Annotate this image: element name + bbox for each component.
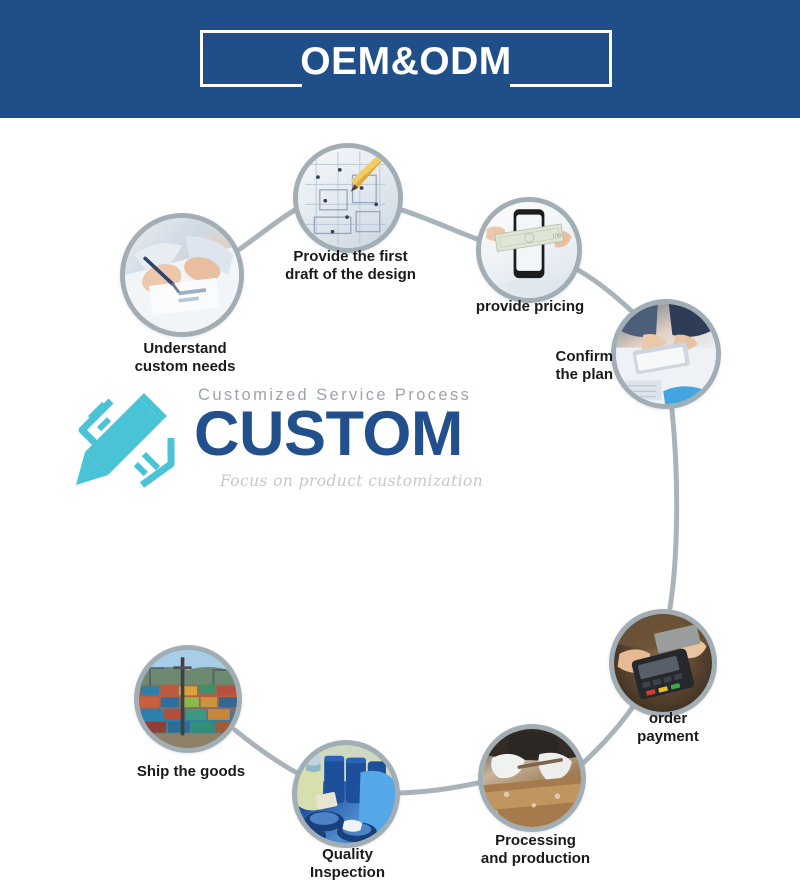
hands-writing-on-documents-photo: [125, 218, 239, 332]
worker-hands-shaping-wood-photo: [483, 729, 581, 827]
step-label-understand-custom-needs: Understand custom needs: [110, 340, 260, 375]
arc-needs-to-draft: [240, 210, 295, 249]
processing-and-production-image[interactable]: [478, 724, 586, 832]
pencil-ruler-icon: [70, 390, 182, 494]
order-payment-image[interactable]: [609, 609, 717, 717]
step-label-ship-the-goods: Ship the goods: [116, 763, 266, 781]
header-banner: OEM&ODM: [0, 0, 800, 118]
quality-inspection-image[interactable]: [292, 740, 400, 848]
step-label-provide-pricing: provide pricing: [455, 298, 605, 316]
frame-top-edge: [200, 30, 612, 33]
card-payment-terminal-photo: [614, 614, 712, 712]
blueprint-with-pencil-photo: [298, 148, 398, 248]
page-title: OEM&ODM: [200, 42, 612, 81]
two-people-reviewing-tablet-photo: [616, 304, 716, 404]
arc-draft-to-pricing: [402, 210, 477, 239]
frame-bottom-right-edge: [510, 84, 612, 87]
process-cycle-diagram: Understand custom needs: [0, 118, 800, 800]
provide-pricing-image[interactable]: 100: [476, 197, 582, 303]
hand-with-money-and-phone-photo: 100: [481, 202, 577, 298]
logo-tagline-bottom: Focus on product customization: [220, 472, 490, 490]
arc-plan-to-payment: [670, 410, 677, 608]
step-label-provide-first-draft: Provide the first draft of the design: [273, 248, 428, 283]
provide-first-draft-image[interactable]: [293, 143, 403, 253]
custom-logo: Customized Service Process CUSTOM Focus …: [70, 386, 490, 506]
shipping-container-port-photo: [139, 650, 237, 748]
svg-text:100: 100: [551, 232, 561, 240]
understand-custom-needs-image[interactable]: [120, 213, 244, 337]
logo-wordmark: CUSTOM: [194, 403, 494, 466]
inspectors-checking-blue-drums-photo: [297, 745, 395, 843]
step-label-quality-inspection: Quality Inspection: [290, 846, 405, 881]
arc-prod-to-qc: [400, 783, 478, 793]
ship-the-goods-image[interactable]: [134, 645, 242, 753]
step-label-confirm-the-plan: Confirm the plan: [528, 348, 613, 383]
frame-bottom-left-edge: [200, 84, 302, 87]
step-label-order-payment: order payment: [618, 710, 718, 745]
confirm-the-plan-image[interactable]: [611, 299, 721, 409]
step-label-processing-and-production: Processing and production: [468, 832, 603, 867]
